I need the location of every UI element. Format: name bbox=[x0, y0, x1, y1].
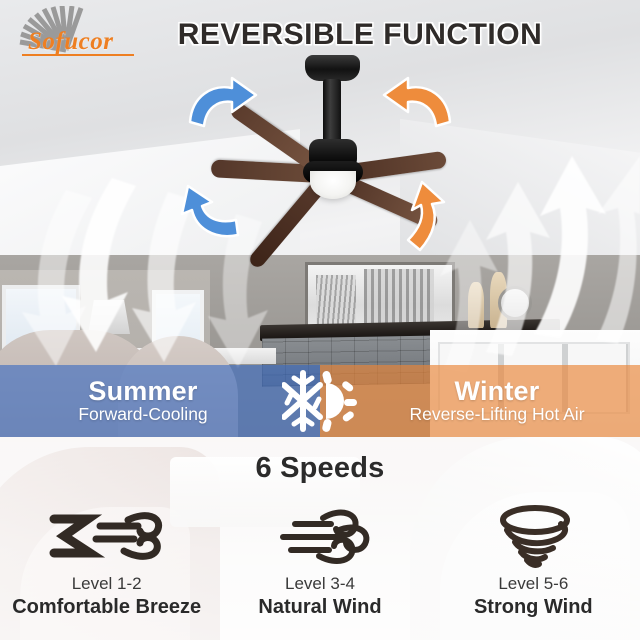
season-icon-pair bbox=[282, 365, 358, 437]
sun-icon bbox=[321, 370, 357, 433]
brand-wordmark: Sofucor bbox=[28, 28, 113, 56]
summer-subtitle: Forward-Cooling bbox=[78, 406, 207, 424]
speeds-heading: 6 Speeds bbox=[0, 452, 640, 485]
speed-card-list: Level 1-2 Comfortable Breeze Level 3-4 bbox=[0, 500, 640, 640]
decor-globe bbox=[498, 286, 532, 320]
brand-underline bbox=[22, 54, 134, 56]
page-title: REVERSIBLE FUNCTION bbox=[150, 18, 570, 52]
floor-lamp-shade bbox=[88, 300, 130, 334]
winter-subtitle: Reverse-Lifting Hot Air bbox=[409, 406, 584, 424]
fan-ceiling-mount bbox=[305, 55, 360, 81]
brand-logo: Sofucor bbox=[8, 6, 140, 58]
ceiling-fan-icon bbox=[255, 55, 425, 205]
speed-name-label: Comfortable Breeze bbox=[12, 596, 201, 619]
speed-level-label: Level 1-2 bbox=[72, 574, 142, 594]
summer-panel: Summer Forward-Cooling bbox=[0, 365, 320, 437]
product-infographic: Sofucor REVERSIBLE FUNCTION Summer Forwa… bbox=[0, 0, 640, 640]
speed-name-label: Strong Wind bbox=[474, 596, 593, 619]
gentle-breeze-icon bbox=[42, 504, 172, 570]
winter-title: Winter bbox=[409, 378, 584, 406]
speed-card-level-3-4: Level 3-4 Natural Wind bbox=[213, 500, 426, 640]
fan-downrod bbox=[323, 79, 341, 145]
winter-panel: Winter Reverse-Lifting Hot Air bbox=[320, 365, 640, 437]
wind-lines-icon bbox=[265, 504, 375, 570]
tornado-icon bbox=[483, 504, 583, 570]
speed-level-label: Level 5-6 bbox=[498, 574, 568, 594]
speed-card-level-5-6: Level 5-6 Strong Wind bbox=[427, 500, 640, 640]
speed-card-level-1-2: Level 1-2 Comfortable Breeze bbox=[0, 500, 213, 640]
decor-vase-1 bbox=[468, 282, 484, 328]
speed-level-label: Level 3-4 bbox=[285, 574, 355, 594]
summer-title: Summer bbox=[78, 378, 207, 406]
snowflake-icon bbox=[284, 373, 320, 429]
speed-name-label: Natural Wind bbox=[258, 596, 381, 619]
